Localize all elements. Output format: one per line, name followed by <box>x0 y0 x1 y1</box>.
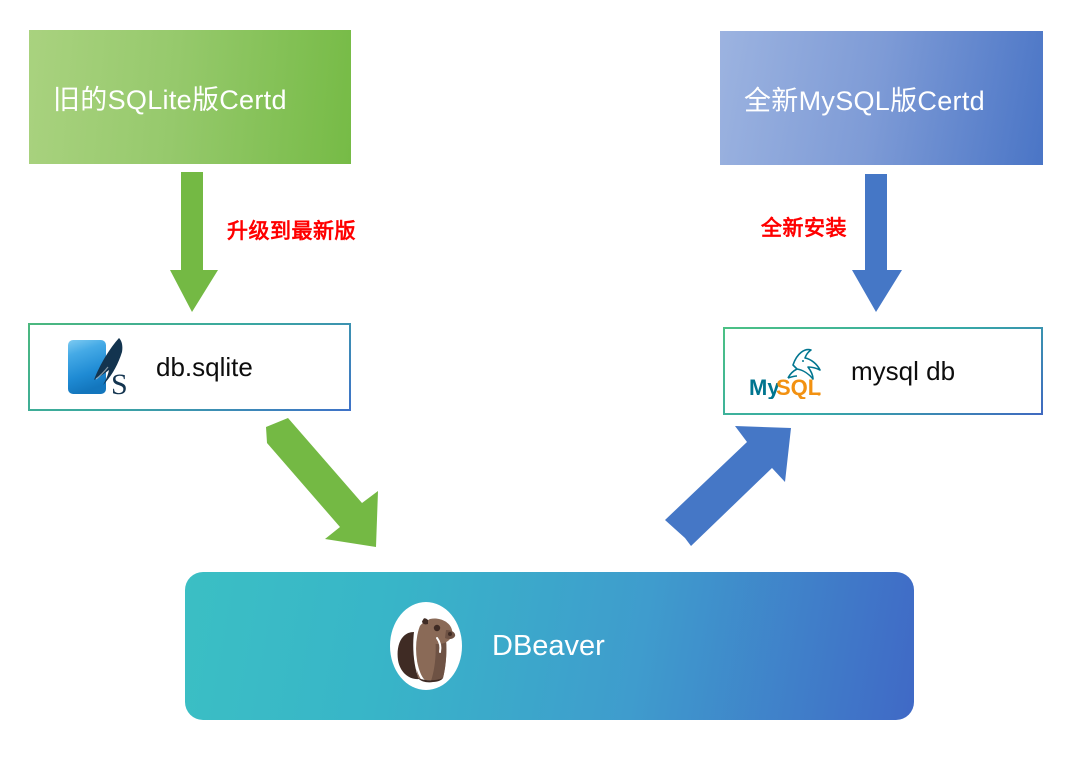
sqlite-logo-icon: S <box>66 336 138 398</box>
arrow-diagonal-green-sqlite-to-dbeaver-icon <box>250 415 390 555</box>
dbeaver-beaver-icon <box>388 600 464 692</box>
node-dbeaver-label: DBeaver <box>492 630 605 663</box>
svg-text:S: S <box>111 368 128 398</box>
arrow-diagonal-blue-dbeaver-to-mysql-icon <box>665 420 805 555</box>
node-old-sqlite-certd[interactable]: 旧的SQLite版Certd <box>29 30 351 164</box>
edge-label-fresh-install: 全新安装 <box>761 212 847 242</box>
arrow-down-green-upgrade-icon <box>170 172 220 314</box>
node-new-mysql-certd[interactable]: 全新MySQL版Certd <box>720 31 1043 165</box>
edge-label-upgrade: 升级到最新版 <box>227 215 356 245</box>
node-dbeaver[interactable]: DBeaver <box>185 572 914 720</box>
node-db-sqlite[interactable]: S db.sqlite <box>28 323 351 411</box>
node-mysql-db-label: mysql db <box>851 356 955 387</box>
arrow-down-blue-fresh-install-icon <box>852 174 904 314</box>
node-new-mysql-certd-label: 全新MySQL版Certd <box>720 79 985 118</box>
node-old-sqlite-certd-label: 旧的SQLite版Certd <box>29 78 287 117</box>
diagram-canvas: 旧的SQLite版Certd 全新MySQL版Certd 升级到最新版 全新安装 <box>0 0 1074 765</box>
node-db-sqlite-label: db.sqlite <box>156 352 253 383</box>
node-mysql-db[interactable]: My SQL mysql db <box>723 327 1043 415</box>
mysql-logo-icon: My SQL <box>747 343 835 399</box>
mysql-wordmark-sql: SQL <box>776 375 821 399</box>
